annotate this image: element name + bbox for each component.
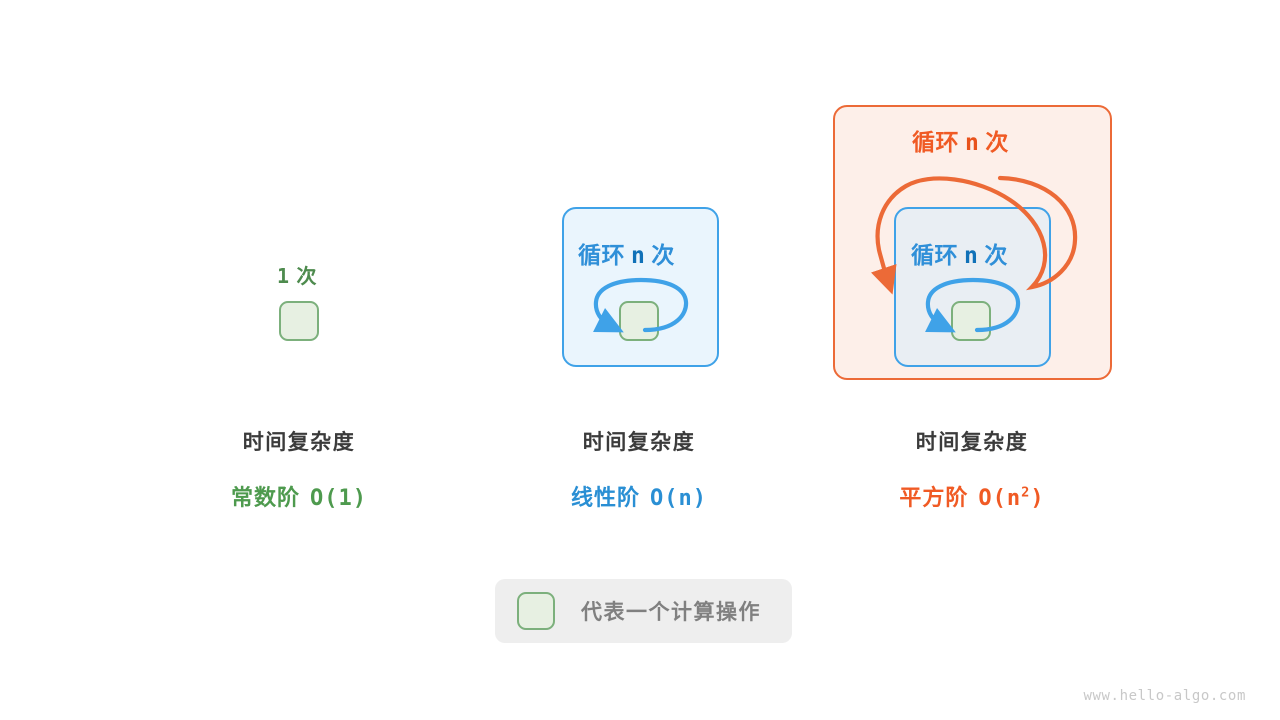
quadratic-outer-caption-var: n — [959, 130, 985, 156]
constant-count-unit: 次 — [297, 266, 318, 288]
order-code-linear: O(n) — [640, 486, 707, 511]
linear-loop-caption-prefix: 循环 — [578, 242, 625, 268]
operation-box-linear — [619, 301, 659, 341]
constant-count-value: 1 — [277, 264, 297, 288]
diagram-canvas: 1次 循环n次 循环n次 循环n次 — [0, 0, 1280, 720]
quadratic-inner-caption-suffix: 次 — [984, 242, 1008, 268]
quadratic-outer-caption-suffix: 次 — [985, 129, 1009, 155]
constant-count-caption: 1次 — [277, 260, 317, 289]
order-name-constant: 常数阶 — [231, 485, 300, 510]
operation-box-constant — [279, 301, 319, 341]
label-column-linear: 时间复杂度 线性阶O(n) — [479, 426, 799, 512]
quadratic-outer-loop-caption: 循环n次 — [912, 123, 1009, 157]
linear-loop-caption-var: n — [625, 243, 651, 269]
order-code-quadratic: O(n2) — [968, 486, 1044, 511]
label-column-constant: 时间复杂度 常数阶O(1) — [139, 426, 459, 512]
watermark: www.hello-algo.com — [1083, 688, 1246, 704]
quadratic-inner-caption-var: n — [958, 243, 984, 269]
complexity-title-constant: 时间复杂度 — [139, 426, 459, 456]
order-code-constant: O(1) — [300, 486, 367, 511]
linear-loop-caption-suffix: 次 — [651, 242, 675, 268]
legend-label: 代表一个计算操作 — [581, 596, 761, 626]
label-column-quadratic: 时间复杂度 平方阶O(n2) — [812, 426, 1132, 512]
order-code-quadratic-exponent: 2 — [1021, 485, 1030, 501]
legend-operation-box-icon — [517, 592, 555, 630]
complexity-title-linear: 时间复杂度 — [479, 426, 799, 456]
legend: 代表一个计算操作 — [495, 579, 792, 643]
complexity-title-quadratic: 时间复杂度 — [812, 426, 1132, 456]
order-code-quadratic-base: O(n — [978, 486, 1021, 511]
quadratic-inner-caption-prefix: 循环 — [911, 242, 958, 268]
complexity-order-constant: 常数阶O(1) — [139, 480, 459, 512]
quadratic-outer-caption-prefix: 循环 — [912, 129, 959, 155]
order-name-quadratic: 平方阶 — [899, 485, 968, 510]
order-code-quadratic-tail: ) — [1030, 486, 1044, 511]
linear-loop-caption: 循环n次 — [578, 236, 675, 270]
quadratic-inner-loop-caption: 循环n次 — [911, 236, 1008, 270]
complexity-order-linear: 线性阶O(n) — [479, 480, 799, 512]
order-name-linear: 线性阶 — [571, 485, 640, 510]
loop-frame-linear — [562, 207, 719, 367]
operation-box-quadratic — [951, 301, 991, 341]
loop-frame-quadratic-inner — [894, 207, 1051, 367]
complexity-order-quadratic: 平方阶O(n2) — [812, 480, 1132, 512]
